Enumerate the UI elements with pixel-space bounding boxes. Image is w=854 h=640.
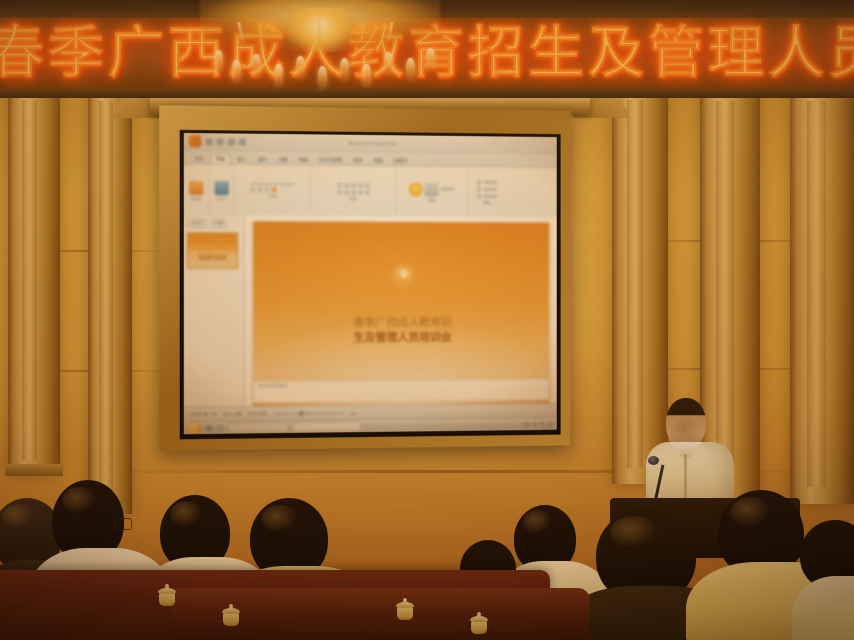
marble-column bbox=[8, 84, 60, 476]
list-row[interactable] bbox=[336, 182, 369, 187]
select-row[interactable] bbox=[476, 194, 497, 199]
banner-text: 春季广西成人教育招生及管理人员培训 bbox=[0, 26, 854, 82]
ribbon-tab-transitions[interactable]: 切换 bbox=[274, 155, 291, 164]
zoom-level-label[interactable]: 66% bbox=[350, 411, 358, 416]
start-button-icon[interactable] bbox=[188, 423, 201, 432]
lidded-teacup bbox=[222, 604, 240, 626]
bullets-icon[interactable] bbox=[336, 182, 341, 187]
select-icon[interactable] bbox=[476, 194, 481, 199]
find-icon[interactable] bbox=[476, 180, 481, 185]
font-name-box[interactable] bbox=[250, 183, 278, 186]
ribbon-tab-review[interactable]: 审阅 bbox=[349, 156, 366, 165]
lidded-teacup bbox=[470, 612, 488, 634]
find-row[interactable] bbox=[476, 180, 497, 185]
underline-icon[interactable] bbox=[264, 188, 269, 193]
ribbon-group-drawing[interactable]: 绘图 bbox=[396, 166, 468, 218]
teacup-body bbox=[471, 620, 487, 634]
column-groove bbox=[99, 101, 112, 497]
volume-icon[interactable] bbox=[532, 422, 537, 427]
status-language[interactable]: 中文(中国) bbox=[248, 411, 267, 417]
ribbon-tab-insert[interactable]: 插入 bbox=[233, 155, 250, 164]
indent-decrease-icon[interactable] bbox=[351, 182, 356, 187]
replace-icon[interactable] bbox=[476, 187, 481, 192]
teacup-knob bbox=[403, 598, 407, 603]
ribbon[interactable]: 剪贴板 幻灯片 bbox=[184, 164, 557, 219]
system-tray[interactable] bbox=[525, 421, 553, 426]
font-name-row[interactable] bbox=[250, 183, 295, 186]
column-groove bbox=[807, 101, 826, 487]
ribbon-group-clipboard[interactable]: 剪贴板 bbox=[184, 164, 210, 217]
font-style-row[interactable] bbox=[250, 187, 295, 192]
notes-pane[interactable]: 单击此处添加备注 bbox=[253, 379, 549, 404]
select-label-box[interactable] bbox=[483, 195, 497, 198]
font-controls[interactable] bbox=[250, 183, 295, 193]
ribbon-tab-view[interactable]: 视图 bbox=[369, 156, 386, 165]
ribbon-group-label: 幻灯片 bbox=[216, 197, 227, 202]
clock-icon[interactable] bbox=[548, 421, 553, 426]
replace-row[interactable] bbox=[476, 187, 497, 192]
align-center-icon[interactable] bbox=[344, 189, 349, 194]
teacup-knob bbox=[229, 604, 233, 609]
thumbnail-tab-bar[interactable]: 幻灯片 大纲 bbox=[187, 218, 241, 228]
ribbon-tab-slideshow[interactable]: 幻灯片放映 bbox=[315, 155, 346, 164]
taskbar-powerpoint-button[interactable] bbox=[293, 421, 361, 432]
teacup-body bbox=[159, 592, 175, 606]
powerpoint-window[interactable]: Microsoft PowerPoint 文件 开始 插入 设计 切换 动画 幻… bbox=[184, 133, 557, 434]
hair-highlight bbox=[523, 510, 553, 533]
audience-member bbox=[800, 520, 854, 640]
ribbon-tab-file[interactable]: 文件 bbox=[190, 154, 208, 163]
quick-styles-box[interactable] bbox=[440, 188, 454, 191]
teacup-body bbox=[223, 612, 239, 626]
align-right-icon[interactable] bbox=[351, 189, 356, 194]
taskbar-window-button[interactable] bbox=[228, 422, 289, 433]
paste-icon[interactable] bbox=[189, 180, 203, 194]
italic-icon[interactable] bbox=[257, 187, 262, 192]
paragraph-controls[interactable] bbox=[336, 182, 369, 194]
quicklaunch-explorer-icon[interactable] bbox=[217, 424, 224, 431]
tab-slides[interactable]: 幻灯片 bbox=[187, 218, 207, 228]
replace-label-box[interactable] bbox=[483, 188, 497, 191]
hair-highlight bbox=[730, 497, 771, 527]
status-theme: Office 主题 bbox=[222, 411, 242, 417]
quicklaunch-browser-icon[interactable] bbox=[205, 424, 212, 431]
ribbon-tab-design[interactable]: 设计 bbox=[254, 155, 271, 164]
ribbon-group-label: 剪贴板 bbox=[191, 196, 202, 201]
ribbon-group-label: 编辑 bbox=[483, 201, 490, 206]
audience-shirt bbox=[792, 576, 854, 640]
projection-screen-frame: Microsoft PowerPoint 文件 开始 插入 设计 切换 动画 幻… bbox=[159, 105, 570, 451]
crescent-moon-icon bbox=[396, 268, 410, 282]
tab-outline[interactable]: 大纲 bbox=[210, 218, 226, 228]
arrange-icon[interactable] bbox=[425, 182, 439, 196]
shapes-row[interactable] bbox=[409, 182, 454, 196]
drawing-controls[interactable] bbox=[409, 182, 454, 196]
ribbon-group-font[interactable]: 字体 bbox=[235, 165, 311, 218]
slide-title-line1: 春季广西成人教育招 bbox=[271, 316, 531, 331]
ribbon-group-editing[interactable]: 编辑 bbox=[468, 167, 505, 219]
font-color-icon[interactable] bbox=[272, 188, 277, 193]
editor-workarea[interactable]: 幻灯片 大纲 春季广西成人教育招 生及管理人员培训会 春季广西成人教育招 bbox=[184, 215, 557, 408]
led-banner: 春季广西成人教育招生及管理人员培训 bbox=[0, 18, 854, 90]
bold-icon[interactable] bbox=[250, 187, 255, 192]
ribbon-tab-animations[interactable]: 动画 bbox=[295, 155, 312, 164]
hair-highlight bbox=[170, 501, 204, 527]
microphone-icon bbox=[648, 456, 659, 465]
photo-scene: Microsoft PowerPoint 文件 开始 插入 设计 切换 动画 幻… bbox=[0, 0, 854, 640]
lidded-teacup bbox=[396, 598, 414, 620]
columns-icon[interactable] bbox=[365, 189, 370, 194]
teacup-knob bbox=[165, 584, 169, 589]
lidded-teacup bbox=[158, 584, 176, 606]
ribbon-group-label: 绘图 bbox=[428, 198, 435, 203]
teacup-knob bbox=[477, 612, 481, 617]
column-groove bbox=[22, 100, 38, 461]
hair-highlight bbox=[261, 505, 298, 533]
slide-thumbnail-pane[interactable]: 幻灯片 大纲 春季广西成人教育招 生及管理人员培训会 bbox=[184, 215, 245, 408]
window-title: Microsoft PowerPoint bbox=[184, 139, 557, 148]
status-slide-number: 幻灯片 第 1 张 bbox=[190, 412, 216, 418]
align-row[interactable] bbox=[336, 189, 369, 194]
ribbon-group-slides[interactable]: 幻灯片 bbox=[209, 165, 235, 218]
thumbnail-title-line2: 生及管理人员培训会 bbox=[198, 258, 227, 262]
ribbon-tab-home[interactable]: 开始 bbox=[211, 153, 231, 163]
justify-icon[interactable] bbox=[358, 189, 363, 194]
ribbon-tab-addins[interactable]: 加载项 bbox=[390, 156, 412, 165]
zoom-slider[interactable] bbox=[273, 412, 343, 415]
indent-increase-icon[interactable] bbox=[358, 182, 363, 187]
align-left-icon[interactable] bbox=[336, 189, 341, 194]
glasses-icon bbox=[114, 518, 132, 530]
find-label-box[interactable] bbox=[483, 181, 497, 184]
marble-column bbox=[88, 84, 132, 514]
zoom-slider-handle[interactable] bbox=[300, 411, 303, 417]
editing-controls[interactable] bbox=[476, 180, 497, 199]
marble-column bbox=[790, 84, 854, 504]
ribbon-group-label: 字体 bbox=[269, 195, 276, 200]
column-base bbox=[5, 464, 62, 476]
shape-gallery-icon[interactable] bbox=[409, 182, 423, 196]
speaker-shirt-placket bbox=[684, 454, 687, 502]
slide-thumbnail-1[interactable]: 春季广西成人教育招 生及管理人员培训会 bbox=[187, 232, 238, 269]
slide-editing-pane[interactable]: 春季广西成人教育招 生及管理人员培训会 单击此处添加备注 bbox=[245, 215, 557, 407]
font-size-box[interactable] bbox=[281, 183, 295, 186]
banner-bottom-frame bbox=[0, 88, 854, 98]
slide-title-line2: 生及管理人员培训会 bbox=[271, 330, 531, 346]
hair-highlight bbox=[62, 487, 97, 515]
teacup-body bbox=[397, 606, 413, 620]
line-spacing-icon[interactable] bbox=[365, 182, 370, 187]
network-icon[interactable] bbox=[525, 422, 530, 427]
quick-access-toolbar[interactable]: Microsoft PowerPoint bbox=[184, 133, 557, 154]
numbering-icon[interactable] bbox=[344, 182, 349, 187]
projection-screen[interactable]: Microsoft PowerPoint 文件 开始 插入 设计 切换 动画 幻… bbox=[184, 133, 557, 434]
new-slide-icon[interactable] bbox=[215, 180, 229, 194]
ribbon-group-paragraph[interactable]: 段落 bbox=[311, 166, 396, 219]
input-method-icon[interactable] bbox=[540, 421, 545, 426]
hair-highlight bbox=[2, 504, 36, 529]
slide-title[interactable]: 春季广西成人教育招 生及管理人员培训会 bbox=[271, 316, 531, 346]
hair-highlight bbox=[610, 516, 658, 549]
ribbon-group-label: 段落 bbox=[349, 196, 356, 201]
